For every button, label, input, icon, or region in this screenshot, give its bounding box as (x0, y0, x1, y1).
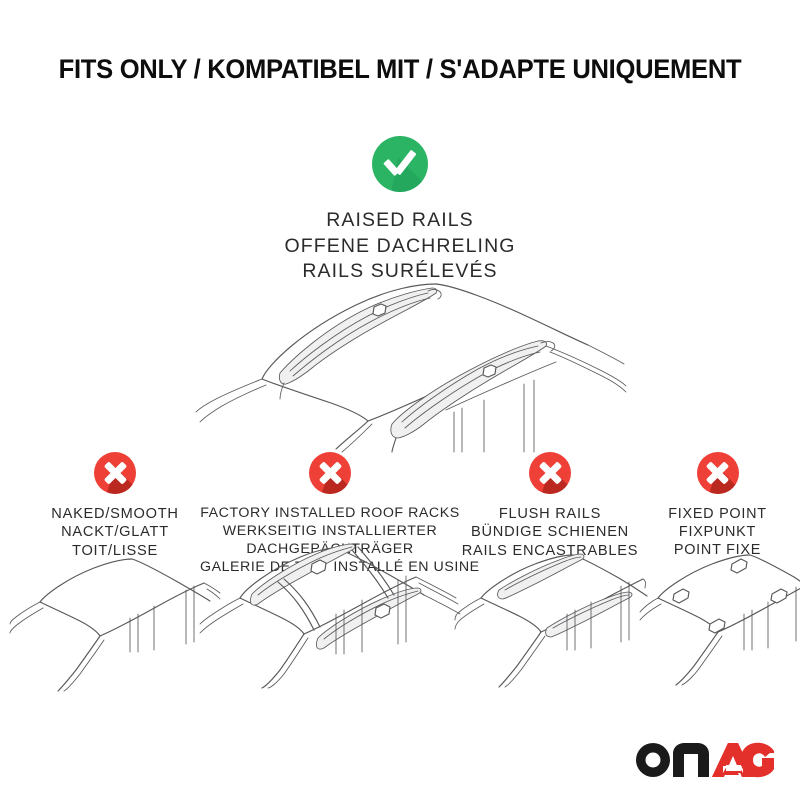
excluded-item-factory-roof-racks: FACTORY INSTALLED ROOF RACKS WERKSEITIG … (200, 452, 460, 577)
excluded-label-line-1: NAKED/SMOOTH (10, 505, 220, 523)
car-roof-fixed-point-illustration (640, 550, 795, 685)
approved-section: RAISED RAILS OFFENE DACHRELING RAILS SUR… (0, 136, 800, 285)
x-mark-icon (706, 461, 730, 485)
approved-label-line-1: RAISED RAILS (0, 208, 800, 234)
excluded-label-line-1: FACTORY INSTALLED ROOF RACKS (200, 505, 460, 523)
excluded-item-naked-smooth: NAKED/SMOOTH NACKT/GLATT TOIT/LISSE (10, 452, 220, 560)
page-title: FITS ONLY / KOMPATIBEL MIT / S'ADAPTE UN… (14, 54, 786, 85)
green-check-circle-icon (372, 136, 428, 192)
excluded-section: NAKED/SMOOTH NACKT/GLATT TOIT/LISSE (0, 452, 800, 692)
excluded-label-group: NAKED/SMOOTH NACKT/GLATT TOIT/LISSE (10, 505, 220, 560)
excluded-label-line-2: FIXPUNKT (640, 523, 795, 541)
omac-logo-letter-c (741, 743, 775, 777)
x-mark-icon (103, 461, 127, 485)
red-x-circle-icon (94, 452, 136, 494)
excluded-label-line-2: BÜNDIGE SCHIENEN (455, 523, 645, 541)
excluded-item-flush-rails: FLUSH RAILS BÜNDIGE SCHIENEN RAILS ENCAS… (455, 452, 645, 560)
omac-logo-letter-m (673, 743, 709, 777)
car-roof-naked-smooth-illustration (10, 556, 220, 691)
car-roof-with-raised-rails-illustration (196, 272, 626, 452)
x-mark-icon (318, 461, 342, 485)
red-x-circle-icon (309, 452, 351, 494)
check-mark-icon (385, 153, 415, 169)
excluded-label-line-2: NACKT/GLATT (10, 523, 220, 541)
omac-logo (634, 742, 774, 778)
car-roof-flush-rails-illustration (455, 552, 645, 687)
excluded-label-line-1: FIXED POINT (640, 505, 795, 523)
excluded-label-line-1: FLUSH RAILS (455, 505, 645, 523)
approved-label-line-2: OFFENE DACHRELING (0, 234, 800, 260)
omac-logo-letter-o (636, 743, 670, 777)
red-x-circle-icon (529, 452, 571, 494)
car-roof-factory-roof-racks-illustration (200, 538, 460, 673)
excluded-item-fixed-point: FIXED POINT FIXPUNKT POINT FIXE (640, 452, 795, 559)
x-mark-icon (538, 461, 562, 485)
red-x-circle-icon (697, 452, 739, 494)
